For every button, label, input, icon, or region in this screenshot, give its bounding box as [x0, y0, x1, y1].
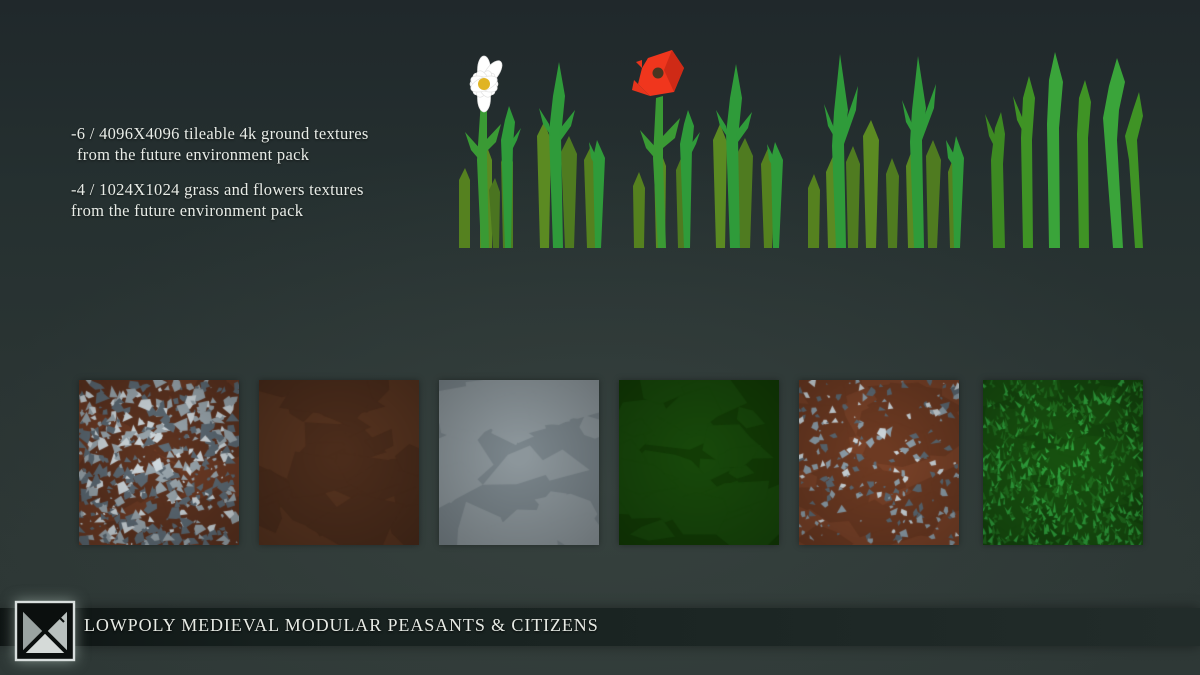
texture-swatch-dirt-rocky-dark[interactable]	[79, 380, 239, 545]
texture-swatch-dirt-plain-dark[interactable]	[259, 380, 419, 545]
texture-swatch-grass-bladed[interactable]	[983, 380, 1143, 545]
grass-blades-group	[808, 120, 961, 248]
plant-assets-row	[0, 40, 1200, 250]
poppy-flower	[632, 50, 684, 96]
texture-swatch-grass-dark-plain[interactable]	[619, 380, 779, 545]
daisy-center	[478, 78, 490, 90]
texture-swatch-row	[0, 380, 1200, 546]
texture-swatch-stone-grey[interactable]	[439, 380, 599, 545]
banner-title: LOWPOLY MEDIEVAL MODULAR PEASANTS & CITI…	[84, 615, 599, 636]
slide-canvas: -6 / 4096X4096 tileable 4k ground textur…	[0, 0, 1200, 675]
plant-grass-with-daisy	[443, 40, 633, 250]
tall-grass-blades-group	[985, 52, 1143, 248]
lowpoly-studio-logo	[14, 600, 76, 662]
plant-grass-with-poppy	[620, 40, 810, 250]
poppy-stem	[640, 96, 680, 248]
plant-grass-tuft-medium	[800, 40, 990, 250]
texture-swatch-dirt-rocky-light[interactable]	[799, 380, 959, 545]
poppy-center	[653, 68, 664, 79]
plant-grass-tuft-tall	[975, 40, 1165, 250]
daisy-flower	[469, 56, 506, 112]
